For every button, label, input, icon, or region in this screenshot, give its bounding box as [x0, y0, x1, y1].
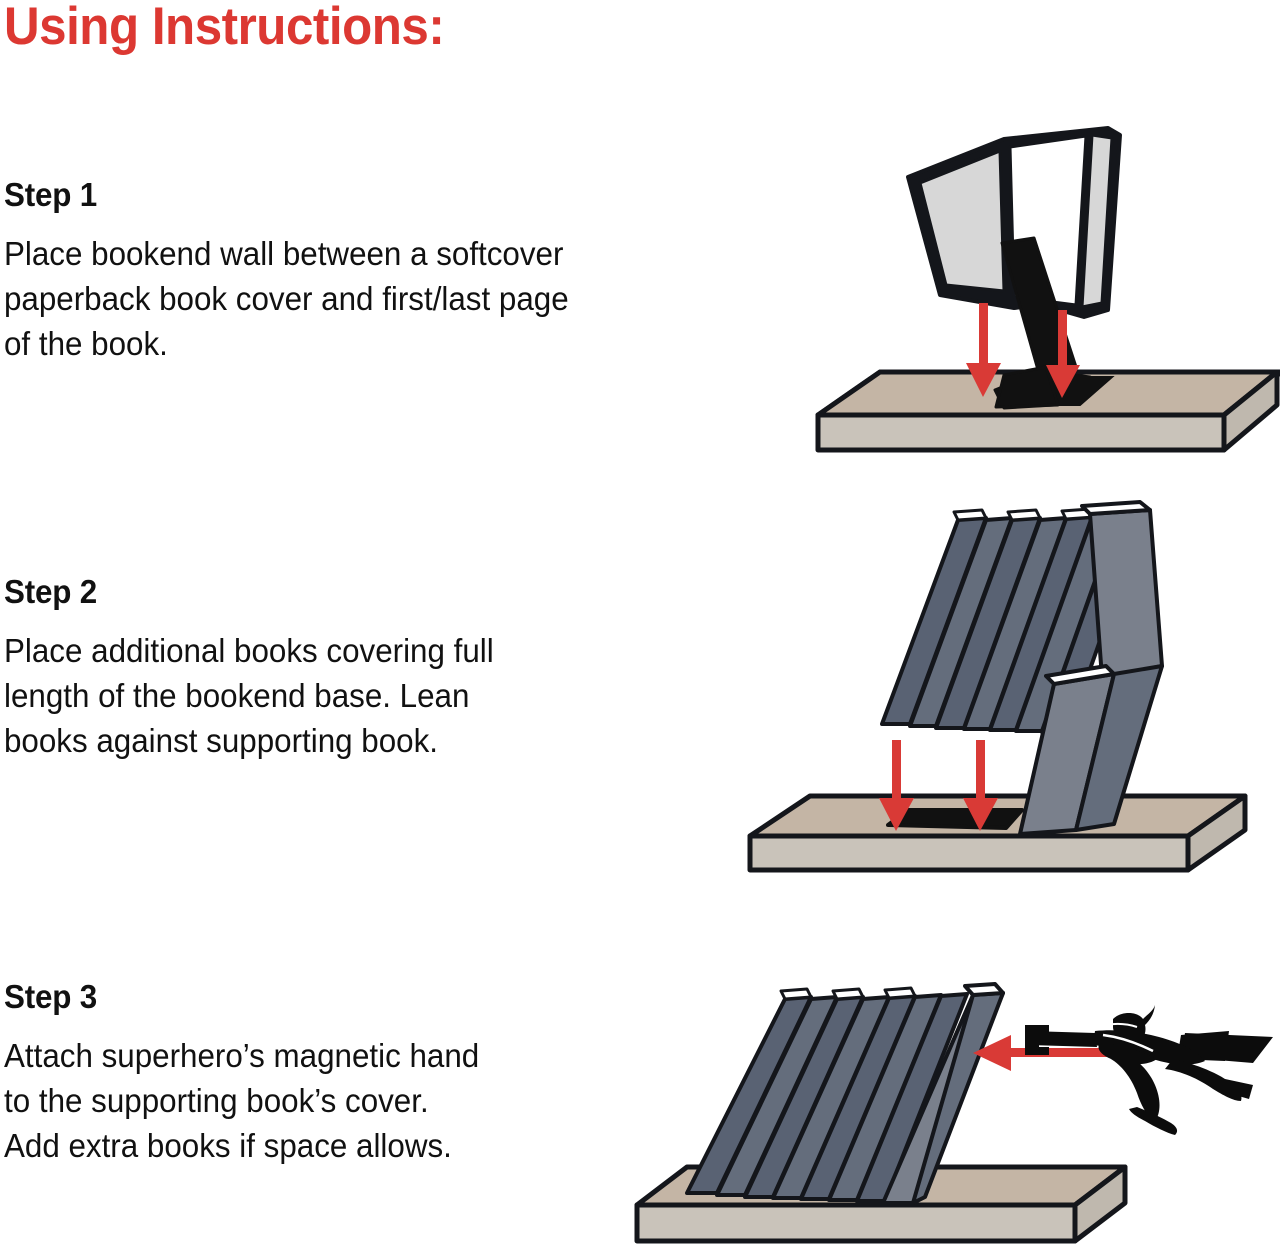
step-2-illustration [710, 488, 1280, 888]
step-1-body: Place bookend wall between a softcover p… [4, 232, 775, 367]
superhero-silhouette [1025, 1005, 1273, 1135]
book-page-top [1008, 510, 1040, 520]
step-3-illustration [625, 975, 1280, 1251]
supporting-book-top [965, 984, 1003, 995]
step-1-heading: Step 1 [4, 176, 775, 214]
book-page-top [781, 989, 811, 999]
step-1-block: Step 1 Place bookend wall between a soft… [4, 176, 816, 367]
step-2-heading: Step 2 [4, 573, 669, 611]
book-page-top [885, 988, 915, 998]
supporting-book-upper-face [1090, 510, 1162, 678]
shelf-front-face [750, 836, 1188, 870]
book-page-top [833, 989, 863, 999]
step-2-block: Step 2 Place additional books covering f… [4, 573, 704, 764]
shelf-front-face [637, 1205, 1075, 1241]
supporting-book-upper-top [1082, 502, 1150, 514]
step-3-heading: Step 3 [4, 978, 669, 1016]
step-3-body: Attach superhero’s magnetic hand to the … [4, 1034, 669, 1169]
book-page-top [954, 510, 986, 520]
step-1-illustration [790, 105, 1280, 460]
step-2-body: Place additional books covering full len… [4, 629, 669, 764]
page-title: Using Instructions: [4, 0, 444, 55]
wooden-shelf-step-2 [750, 796, 1245, 870]
shelf-front-face [818, 415, 1224, 450]
step-3-block: Step 3 Attach superhero’s magnetic hand … [4, 978, 704, 1169]
bookend-base-plate [888, 810, 1022, 828]
